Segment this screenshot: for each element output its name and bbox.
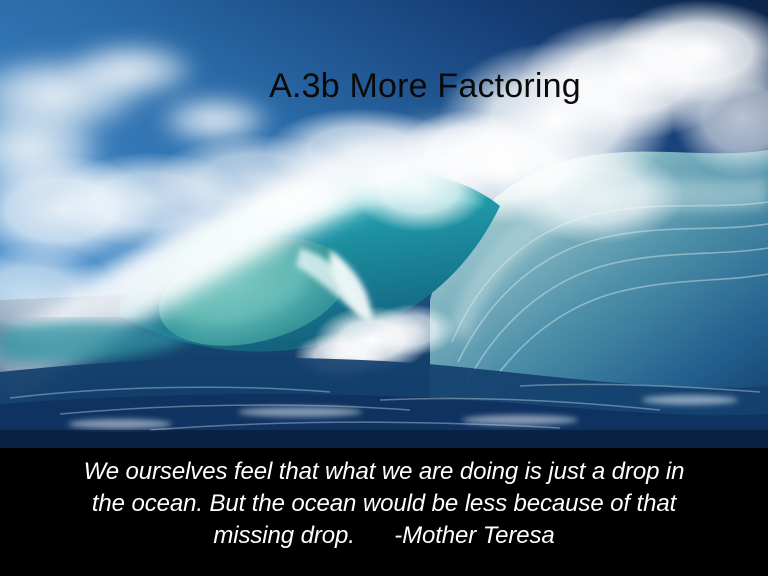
- caption-line-1: We ourselves feel that what we are doing…: [40, 456, 728, 488]
- page-title: A.3b More Factoring: [0, 68, 768, 105]
- presentation-slide: A.3b More Factoring We ourselves feel th…: [0, 0, 768, 576]
- quote-caption: We ourselves feel that what we are doing…: [40, 456, 728, 552]
- caption-line-2: the ocean. But the ocean would be less b…: [40, 488, 728, 520]
- caption-line-3: missing drop. -Mother Teresa: [40, 520, 728, 552]
- caption-band: We ourselves feel that what we are doing…: [0, 448, 768, 576]
